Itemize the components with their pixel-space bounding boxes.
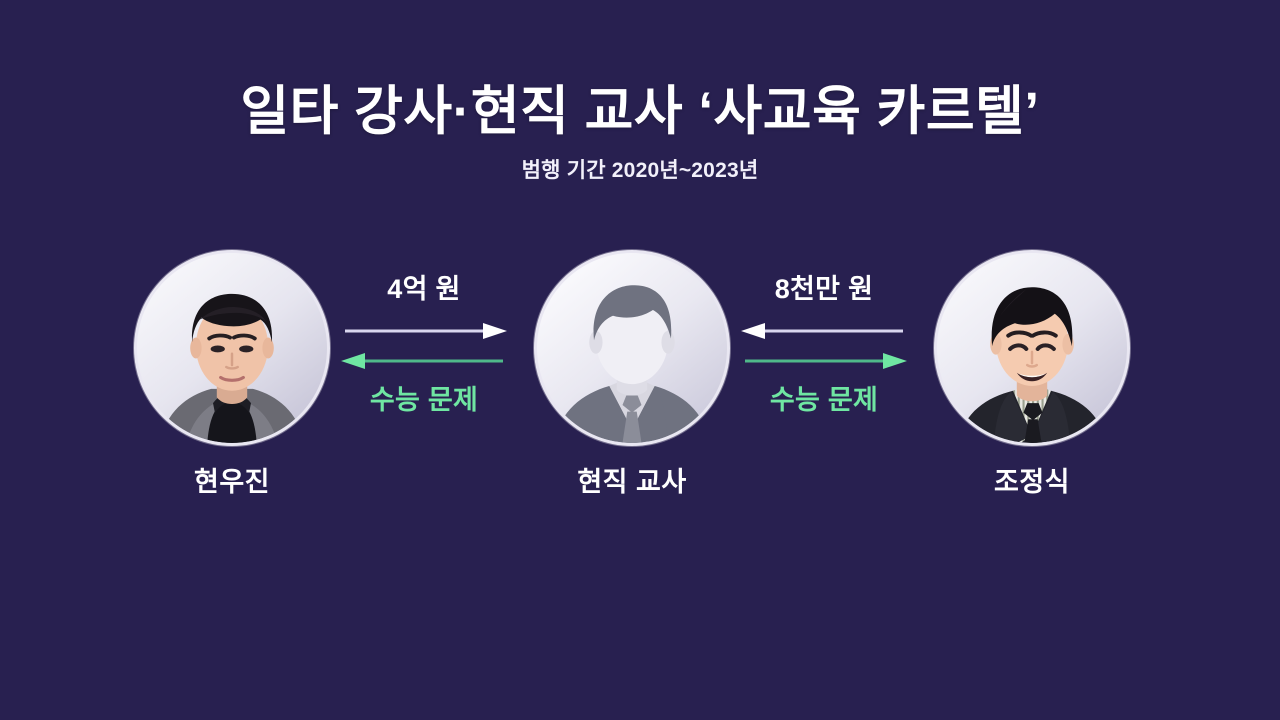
node-label-cho-jeong-sik: 조정식 <box>927 460 1137 499</box>
flow-right-arrows <box>741 320 907 372</box>
flow-right-exam-label: 수능 문제 <box>741 387 907 414</box>
flow-right-money-label: 8천만 원 <box>741 276 907 306</box>
portrait-male-smiling-suit-icon <box>937 253 1127 443</box>
page-title: 일타 강사·현직 교사 ‘사교육 카르텔’ <box>0 84 1280 140</box>
avatar-ring-incumbent-teacher <box>534 250 730 446</box>
arrow-right-icon <box>341 323 507 339</box>
cartel-flow-diagram: 현우진 4억 원 수능 문제 <box>0 250 1280 510</box>
node-incumbent-teacher: 현직 교사 <box>527 250 737 499</box>
node-cho-jeong-sik: 조정식 <box>927 250 1137 499</box>
avatar-hyun-woo-jin <box>137 253 327 443</box>
page-subtitle: 범행 기간 2020년~2023년 <box>0 154 1280 184</box>
portrait-male-turtleneck-icon <box>137 253 327 443</box>
flow-left-money-label: 4억 원 <box>341 276 507 306</box>
avatar-ring-cho-jeong-sik <box>934 250 1130 446</box>
node-label-incumbent-teacher: 현직 교사 <box>527 460 737 499</box>
header: 일타 강사·현직 교사 ‘사교육 카르텔’ 범행 기간 2020년~2023년 <box>0 84 1280 184</box>
arrow-left-icon <box>341 353 507 369</box>
flow-hyunwoojin-teacher: 4억 원 수능 문제 <box>341 276 507 446</box>
node-label-hyun-woo-jin: 현우진 <box>127 460 337 499</box>
arrow-right-icon <box>741 353 907 369</box>
flow-left-arrows <box>341 320 507 372</box>
avatar-ring-hyun-woo-jin <box>134 250 330 446</box>
avatar-incumbent-teacher <box>537 253 727 443</box>
arrow-left-icon <box>741 323 907 339</box>
flow-chojeongsik-teacher: 8천만 원 수능 문제 <box>741 276 907 446</box>
node-hyun-woo-jin: 현우진 <box>127 250 337 499</box>
infographic-stage: 일타 강사·현직 교사 ‘사교육 카르텔’ 범행 기간 2020년~2023년 <box>0 0 1280 720</box>
flow-left-exam-label: 수능 문제 <box>341 387 507 414</box>
anonymous-silhouette-icon <box>537 253 727 443</box>
avatar-cho-jeong-sik <box>937 253 1127 443</box>
